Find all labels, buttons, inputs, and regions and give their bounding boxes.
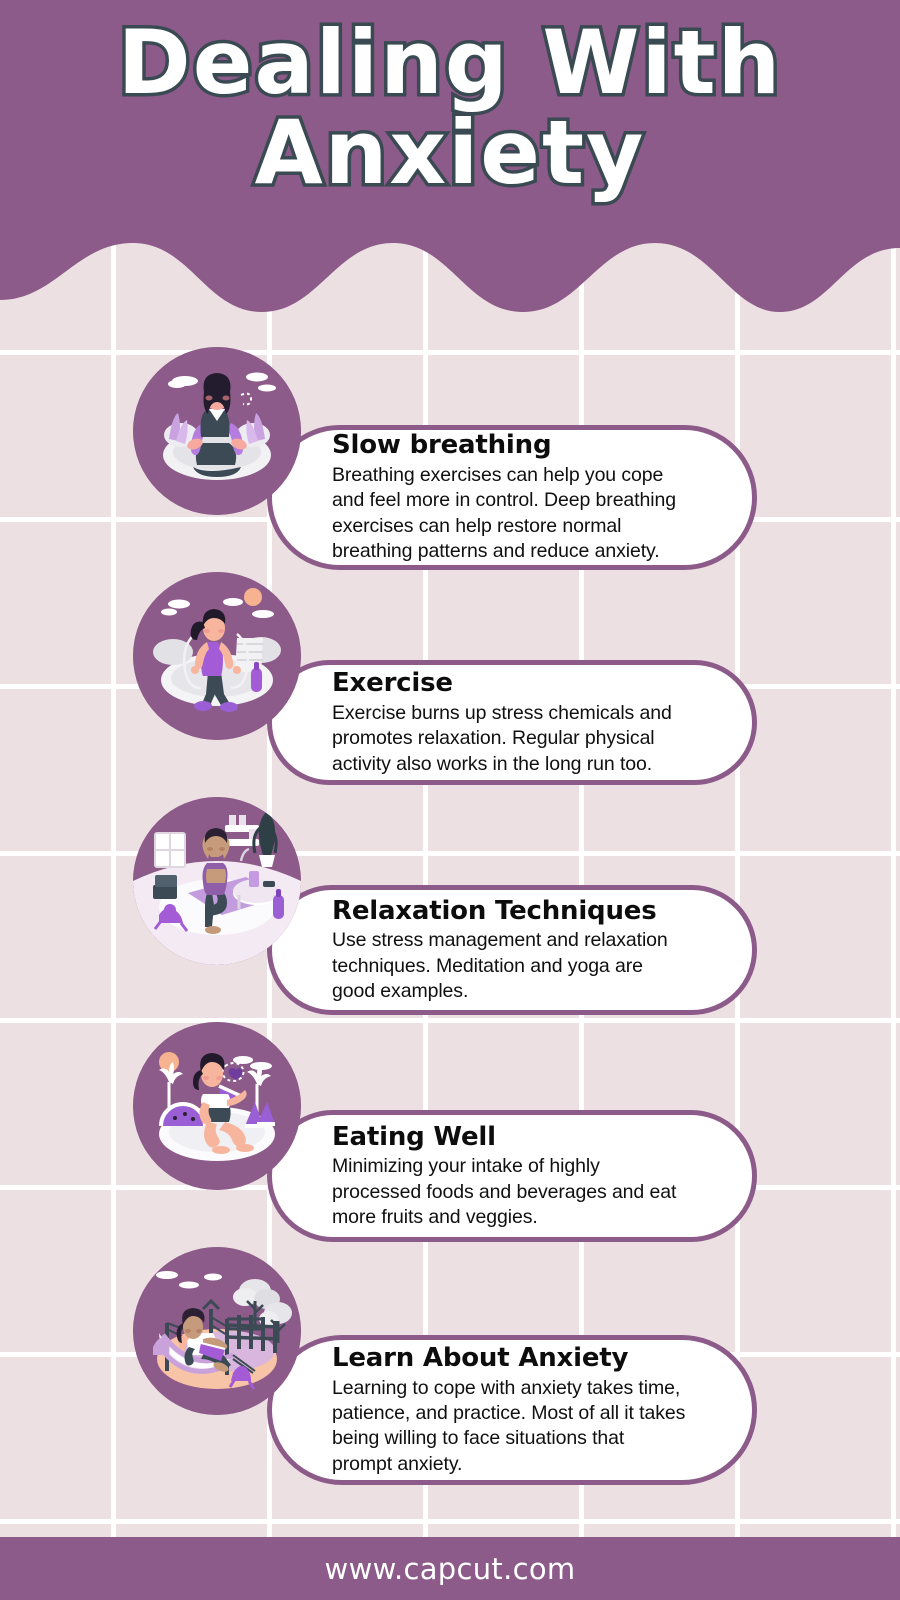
footer-url[interactable]: www.capcut.com — [325, 1552, 576, 1586]
reading-hammock-illustration — [133, 1247, 301, 1415]
tip-card-3-content: Relaxation Techniques Use stress managem… — [272, 896, 752, 1005]
yoga-pose-icon — [133, 797, 301, 965]
tip-row-1: Slow breathing Breathing exercises can h… — [0, 347, 900, 587]
tip-card-1-title: Slow breathing — [332, 430, 712, 461]
tip-row-4: Eating Well Minimizing your intake of hi… — [0, 1022, 900, 1262]
tip-card-4[interactable]: Eating Well Minimizing your intake of hi… — [267, 1110, 757, 1242]
tip-card-4-title: Eating Well — [332, 1122, 712, 1153]
tip-card-5-body: Learning to cope with anxiety takes time… — [332, 1376, 712, 1477]
meditation-breathing-icon — [133, 347, 301, 515]
infographic-poster: Dealing With Anxiety — [0, 0, 900, 1600]
tip-card-1-body: Breathing exercises can help you cope an… — [332, 463, 712, 564]
header-banner: Dealing With Anxiety — [0, 0, 900, 320]
jump-rope-exercise-icon — [133, 572, 301, 740]
eating-watermelon-icon — [133, 1022, 301, 1190]
header-wave-shape — [0, 0, 900, 320]
tip-card-5[interactable]: Learn About Anxiety Learning to cope wit… — [267, 1335, 757, 1485]
tip-row-3: Relaxation Techniques Use stress managem… — [0, 797, 900, 1037]
tip-card-1[interactable]: Slow breathing Breathing exercises can h… — [267, 425, 757, 570]
jump-rope-illustration — [133, 572, 301, 740]
tip-card-4-content: Eating Well Minimizing your intake of hi… — [272, 1122, 752, 1231]
tip-card-3-body: Use stress management and relaxation tec… — [332, 928, 712, 1004]
yoga-illustration — [133, 797, 301, 965]
tip-card-3[interactable]: Relaxation Techniques Use stress managem… — [267, 885, 757, 1015]
tip-card-3-title: Relaxation Techniques — [332, 896, 712, 927]
reading-hammock-icon — [133, 1247, 301, 1415]
tip-card-2-title: Exercise — [332, 668, 712, 699]
tip-row-2: Exercise Exercise burns up stress chemic… — [0, 572, 900, 812]
footer-bar: www.capcut.com — [0, 1537, 900, 1600]
tip-card-2[interactable]: Exercise Exercise burns up stress chemic… — [267, 660, 757, 785]
tip-card-4-body: Minimizing your intake of highly process… — [332, 1154, 712, 1230]
tip-card-2-body: Exercise burns up stress chemicals and p… — [332, 701, 712, 777]
tip-card-5-title: Learn About Anxiety — [332, 1343, 712, 1374]
tip-row-5: Learn About Anxiety Learning to cope wit… — [0, 1247, 900, 1497]
tip-card-5-content: Learn About Anxiety Learning to cope wit… — [272, 1343, 752, 1477]
tip-card-1-content: Slow breathing Breathing exercises can h… — [272, 430, 752, 564]
tip-card-2-content: Exercise Exercise burns up stress chemic… — [272, 668, 752, 777]
eating-well-illustration — [133, 1022, 301, 1190]
meditation-illustration — [133, 347, 301, 515]
